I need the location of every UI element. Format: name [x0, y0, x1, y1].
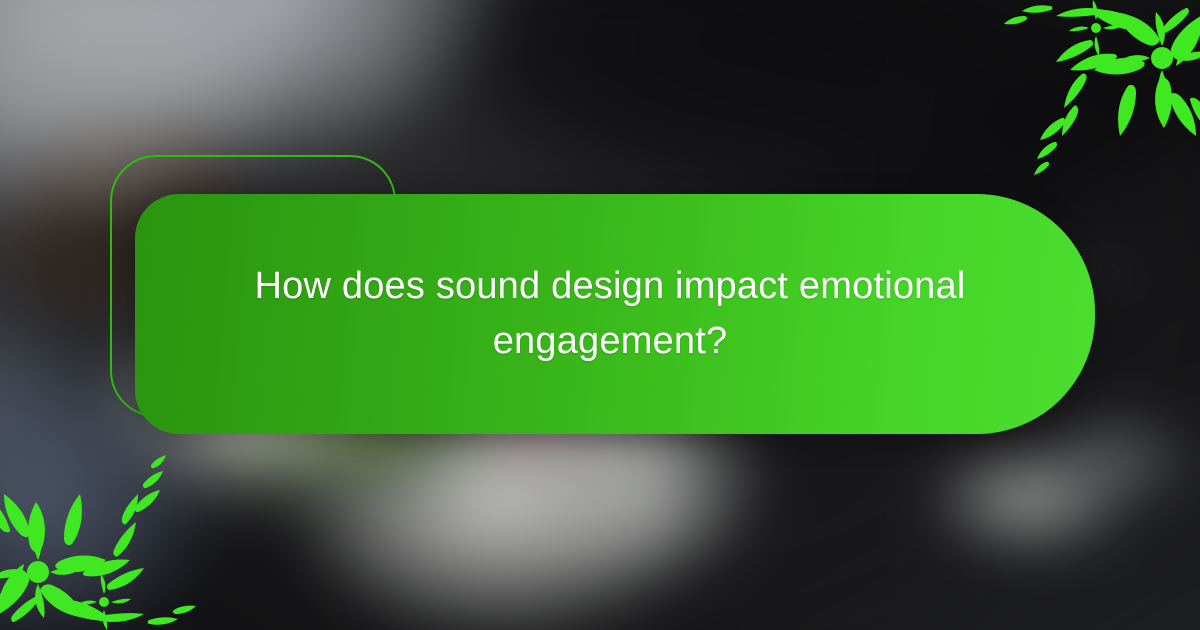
quote-text: How does sound design impact emotional e… — [245, 259, 975, 369]
poster-canvas: How does sound design impact emotional e… — [0, 0, 1200, 630]
quote-card: How does sound design impact emotional e… — [135, 194, 1095, 434]
